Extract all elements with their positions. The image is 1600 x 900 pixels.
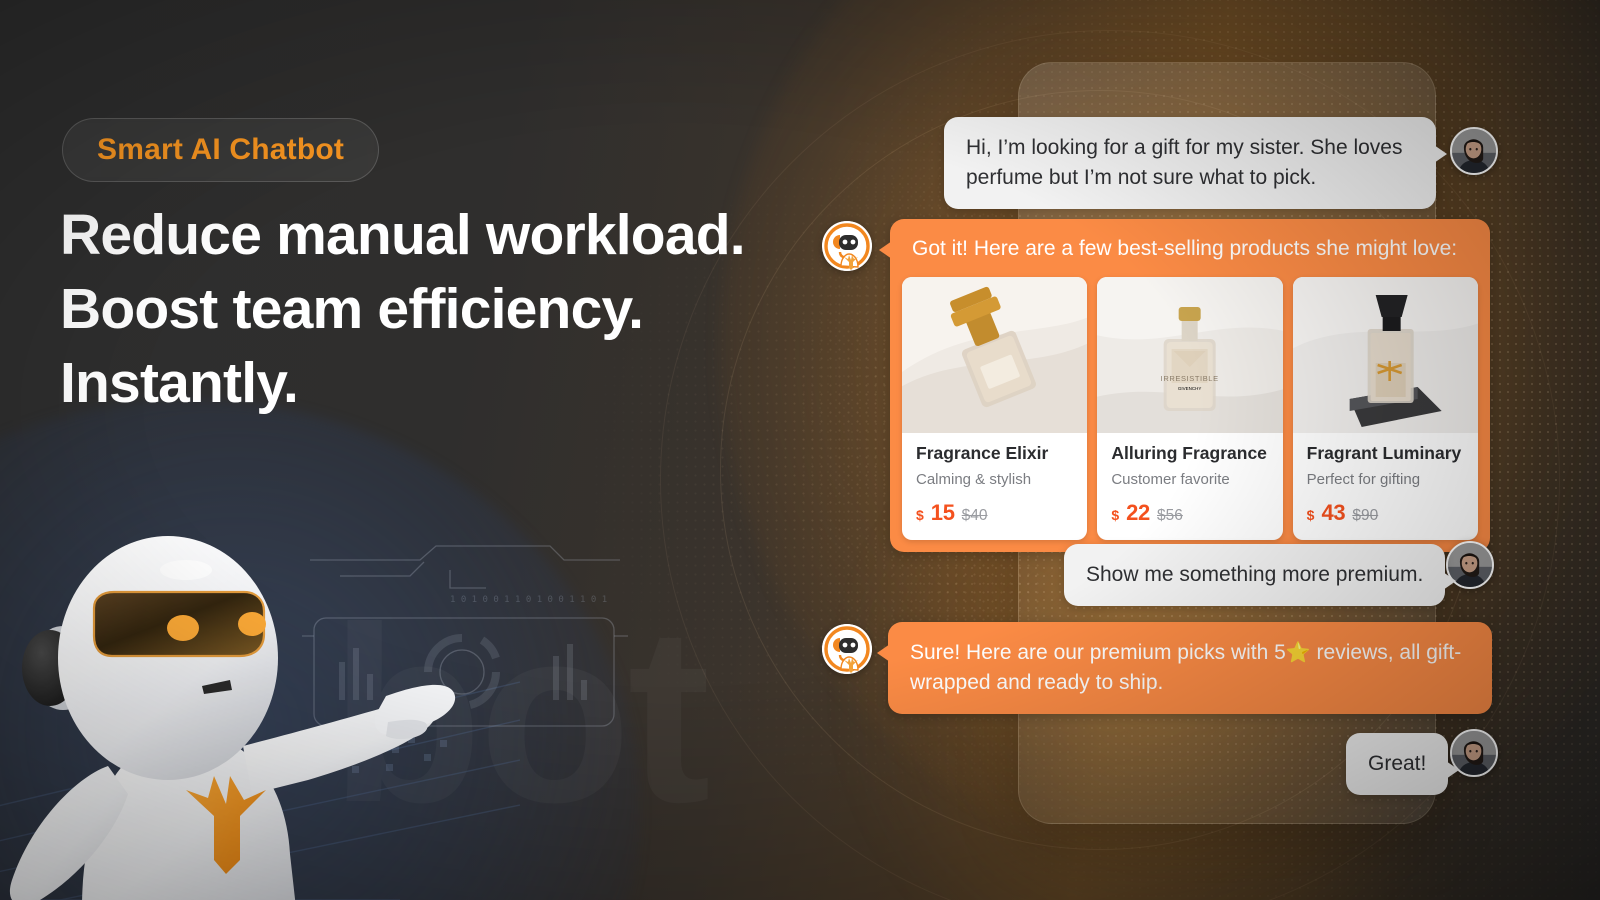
hero-stage: bot 1 0 1 0 0 1 1 0 1 0 0 1 1 0 1 (0, 0, 1600, 900)
background-vignette (0, 0, 1600, 900)
